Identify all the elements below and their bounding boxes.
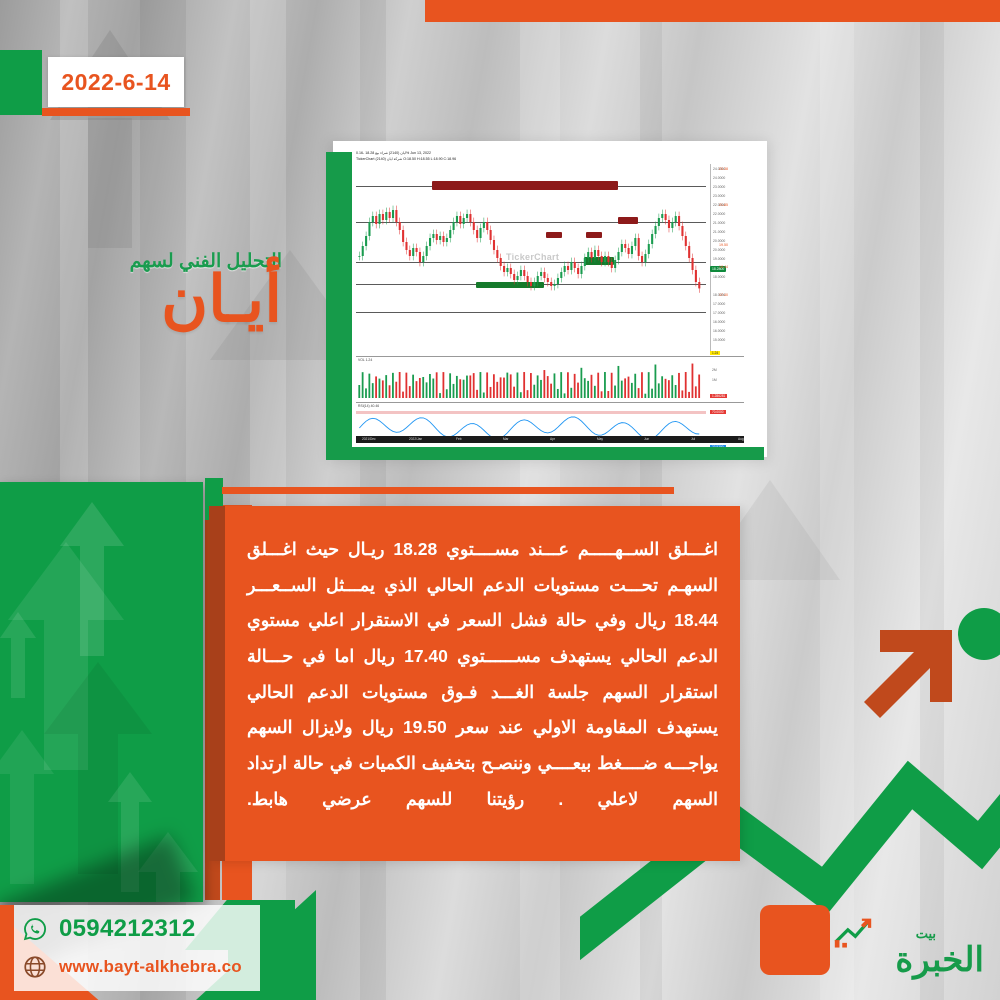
x-axis-tick: Feb [456, 437, 462, 441]
price-level-label: 21.85 [719, 203, 728, 207]
price-level-label: 18.44 [719, 265, 728, 269]
panel-separator [356, 402, 744, 403]
chart-price-panel: TickerChart [356, 164, 706, 354]
stock-chart[interactable]: ايان (2140) شراء بيع 18.28 -0.16% Jun 13… [352, 148, 764, 447]
date-badge-underline [42, 108, 190, 116]
price-level-label: 19.50 [719, 243, 728, 247]
date-badge: 2022-6-14 [48, 57, 184, 107]
volume-panel [356, 362, 706, 400]
x-axis-tick: 2021/Dec [362, 437, 376, 441]
analysis-body-panel: اغـــلق الســهـــــم عـــند مســــتوي 18… [225, 506, 740, 861]
globe-icon [22, 954, 48, 980]
body-divider-line [222, 487, 674, 494]
x-axis-tick: May [597, 437, 603, 441]
x-axis-tick: 2022/Jan [409, 437, 422, 441]
x-axis-tick: Aug [738, 437, 744, 441]
growth-arrow-icon [832, 908, 902, 960]
brand-logo: بيت الخبرة [838, 904, 988, 990]
date-badge-green-accent [0, 50, 42, 115]
top-orange-bar [425, 0, 1000, 22]
title-main: أيـان [130, 269, 282, 330]
contact-website-row[interactable]: www.bayt-alkhebra.co [22, 954, 242, 980]
chart-header-line-2: TickerChart شركة ايان (2140) O:18.50 H:1… [356, 156, 760, 163]
x-axis-tick: Mar [503, 437, 509, 441]
contact-orange-edge [0, 905, 14, 991]
chart-x-axis: 2021/Dec2022/JanFebMarAprMayJunJulAug [356, 436, 744, 443]
whatsapp-icon [22, 916, 48, 942]
price-level-label: 23.38 [719, 167, 728, 171]
logo-orange-square [760, 905, 830, 975]
logo-word-main: الخبرة [895, 945, 984, 976]
x-axis-tick: Jun [644, 437, 649, 441]
price-level-label: 17.40 [719, 293, 728, 297]
bg-arrow-icon [88, 118, 132, 248]
logo-word-top: بيت [916, 926, 936, 942]
website-url: www.bayt-alkhebra.co [59, 957, 242, 977]
candlestick-series [356, 164, 706, 354]
contact-phone-row[interactable]: 0594212312 [22, 915, 195, 943]
left-green-panel [0, 482, 203, 902]
volume-axis-tag: 1.24 [710, 351, 720, 355]
contact-block: 0594212312 www.bayt-alkhebra.co [0, 905, 260, 991]
panel-separator [356, 356, 744, 357]
rsi-axis-tag: 70.0000 [710, 410, 726, 414]
x-axis-tick: Jul [691, 437, 695, 441]
x-axis-tick: Apr [550, 437, 555, 441]
phone-number: 0594212312 [59, 915, 195, 943]
analysis-paragraph: اغـــلق الســهـــــم عـــند مســــتوي 18… [247, 532, 718, 818]
page-title: التحليل الفني لسهم أيـان [130, 250, 282, 330]
rsi-axis-tag: 23.5200 [710, 445, 726, 447]
chart-price-axis: 24.0000 24.0000 23.0000 23.0000 22.0000 … [710, 164, 744, 354]
date-text: 2022-6-14 [61, 69, 170, 96]
